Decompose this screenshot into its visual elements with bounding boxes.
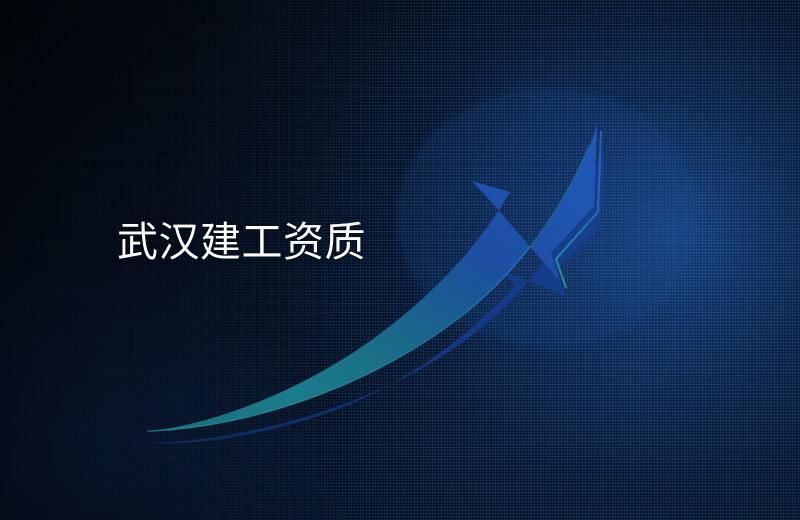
page-title: 武汉建工资质 — [117, 218, 366, 266]
banner-canvas: 武汉建工资质 — [0, 0, 800, 520]
